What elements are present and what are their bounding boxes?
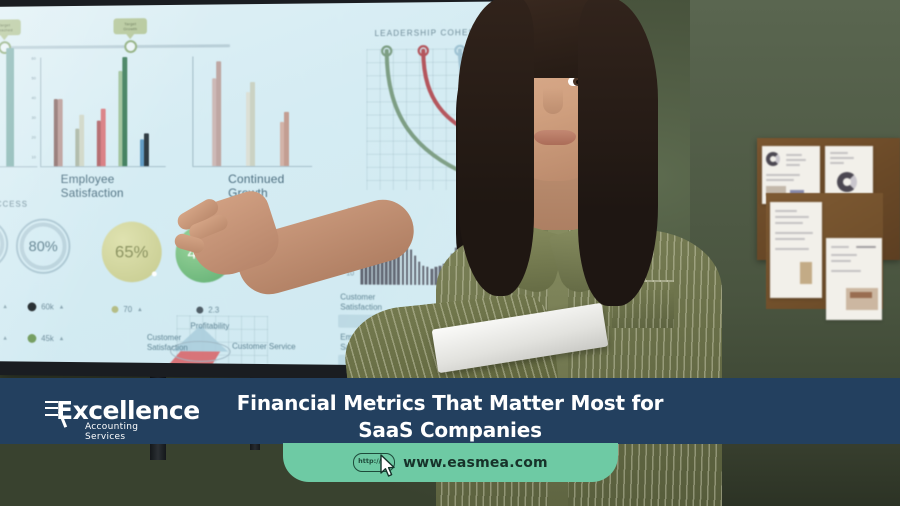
legend-trend-icon: ▲ [2,304,8,310]
gauge-65-endpoint [152,271,157,276]
slider-knob-2[interactable] [124,40,137,53]
legend-trend-icon: ▲ [59,304,65,310]
chart-label-employee-line1: Employee [61,172,115,186]
legend-trend-icon: ▲ [2,335,8,341]
url-bar-icon: http:// [353,453,395,472]
hair-strand-right [578,0,658,306]
emp-bar-group-1 [54,99,63,166]
legend-trend-icon: ▲ [59,336,65,342]
page-title: Financial Metrics That Matter Most for S… [180,390,720,444]
progress-label-customer-line1: Customer [340,292,375,301]
chart-label-growth-line1: Continued [228,172,284,186]
slider-tag-1: Target Reached [0,19,21,35]
legend-value: 45k [41,334,54,343]
hair-strand-left [458,0,534,296]
gauge-65-value: 65% [115,242,148,262]
legend-trend-icon: ▲ [137,307,143,313]
url-protocol-label: http:// [358,457,381,465]
website-url: www.easmea.com [403,455,548,471]
emp-chart-axis [40,58,41,167]
left-chart-baseline [0,166,37,167]
lips [534,130,576,145]
emp-bar-group-5 [140,133,149,166]
headline-line-2: SaaS Companies [358,418,542,442]
legend-item-25k: 25k ▲ [0,333,8,342]
legend-dot [112,306,119,313]
pie-label-profitability: Profitability [190,321,229,331]
emp-tick-50: 50 [31,75,35,80]
emp-tick-20: 20 [31,135,35,140]
pie-label-customer-satisfaction: Customer Satisfaction [147,333,187,353]
slider-track[interactable] [0,44,230,49]
emp-tick-60: 60 [31,56,35,61]
legend-value: 60k [41,302,54,311]
legend-item-15k: 15k ▲ [0,302,8,311]
left-bar-3 [6,48,14,166]
legend-value: 2.3 [208,306,219,315]
legend-dot [28,302,37,311]
emp-bar-group-2 [75,115,84,166]
legend-item-45k: 45k ▲ [28,334,65,343]
growth-bar-2 [246,82,255,166]
logo-tagline: Accounting Services [85,422,168,442]
growth-chart-axis [192,57,193,167]
logo-wordmark: Excellence [44,396,200,425]
chart-label-employee-line2: Satisfaction [61,186,124,200]
pie-label-cs-line2: Satisfaction [147,343,188,352]
legend-value: 70 [123,305,132,314]
pinned-paper-3 [770,202,822,298]
pinned-paper-4 [826,238,882,320]
emp-tick-10: 10 [31,154,35,159]
emp-chart-baseline [40,166,165,167]
slider-tag-2: Target Growth [114,18,147,34]
legend-item-70: 70 ▲ [112,305,143,314]
legend-item-2-3: 2.3 [196,306,219,315]
legend-item-60k: 60k ▲ [28,302,65,311]
growth-chart-baseline [192,166,312,167]
screenshot-stage: Target Reached Target Growth 60 50 [0,0,900,506]
mouse-pointer-icon [379,454,396,478]
progress-label-customer-line2: Satisfaction [340,303,382,312]
success-title: SUCCESS [0,200,28,209]
emp-bar-group-3 [97,109,106,166]
emp-bar-group-4 [118,57,127,166]
gauge-65: 65% [102,222,162,283]
pie-label-cs-line1: Customer [147,333,181,342]
brand-logo[interactable]: Excellence Accounting Services [44,396,168,438]
headline-line-1: Financial Metrics That Matter Most for [237,391,664,415]
emp-tick-30: 30 [31,115,35,120]
growth-bar-1 [212,61,221,166]
pie-label-customer-service: Customer Service [232,342,296,353]
legend-dot [28,334,37,343]
nose [543,88,563,114]
emp-tick-40: 40 [31,95,35,100]
gauge-partial-left: % [0,222,4,265]
website-url-badge[interactable]: http:// www.easmea.com [283,443,618,482]
legend-dot [196,307,203,314]
gauge-80: 80% [20,222,67,270]
growth-bar-3 [280,112,289,166]
chart-label-employee: Employee Satisfaction [61,172,159,200]
